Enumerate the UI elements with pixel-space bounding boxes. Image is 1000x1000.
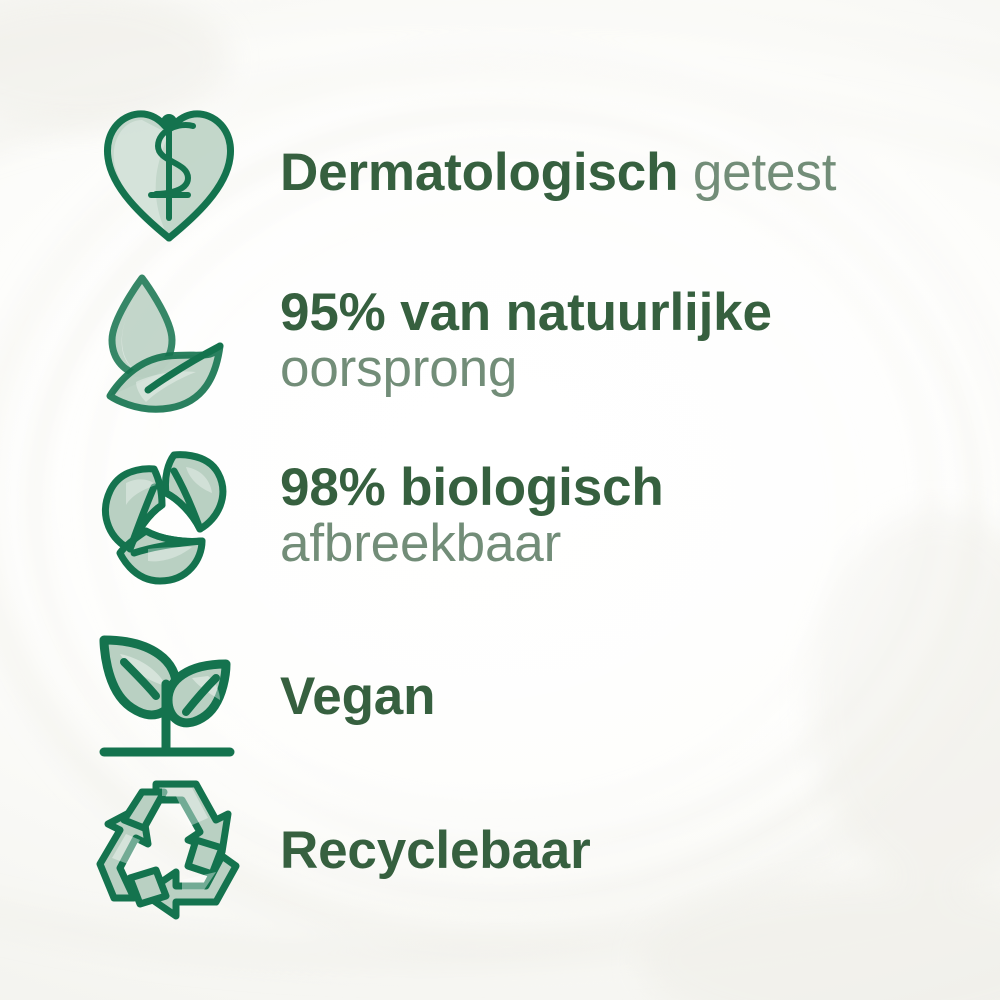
claim-text-strong: 95% van natuurlijke bbox=[280, 283, 772, 342]
heart-caduceus-icon bbox=[96, 100, 246, 246]
claim-text-strong: Vegan bbox=[280, 667, 435, 726]
claim-text-strong: 98% biologisch bbox=[280, 458, 664, 517]
claim-label: 98% biologisch afbreekbaar bbox=[280, 460, 664, 572]
claim-label: 95% van natuurlijke oorsprong bbox=[280, 285, 772, 397]
claims-panel: Dermatologisch getest 95% van natuurlijk… bbox=[0, 0, 1000, 1000]
claim-text-light: getest bbox=[678, 143, 836, 202]
claim-text-light: afbreekbaar bbox=[280, 516, 664, 572]
claim-label: Recyclebaar bbox=[280, 823, 591, 879]
sprout-icon bbox=[96, 624, 246, 770]
claim-row-biodegradable: 98% biologisch afbreekbaar bbox=[96, 443, 664, 589]
claim-label: Vegan bbox=[280, 669, 435, 725]
droplet-leaf-icon bbox=[96, 268, 246, 414]
claim-row-vegan: Vegan bbox=[96, 624, 435, 770]
claim-row-dermatologically-tested: Dermatologisch getest bbox=[96, 100, 836, 246]
claim-text-strong: Dermatologisch bbox=[280, 143, 678, 202]
claim-label: Dermatologisch getest bbox=[280, 145, 836, 201]
claim-text-strong: Recyclebaar bbox=[280, 821, 591, 880]
claims-list: Dermatologisch getest 95% van natuurlijk… bbox=[0, 0, 1000, 1000]
recycle-arrows-icon bbox=[96, 778, 246, 924]
claim-row-recyclable: Recyclebaar bbox=[96, 778, 591, 924]
claim-row-natural-origin: 95% van natuurlijke oorsprong bbox=[96, 268, 772, 414]
claim-text-light: oorsprong bbox=[280, 341, 772, 397]
three-leaves-cycle-icon bbox=[96, 443, 246, 589]
